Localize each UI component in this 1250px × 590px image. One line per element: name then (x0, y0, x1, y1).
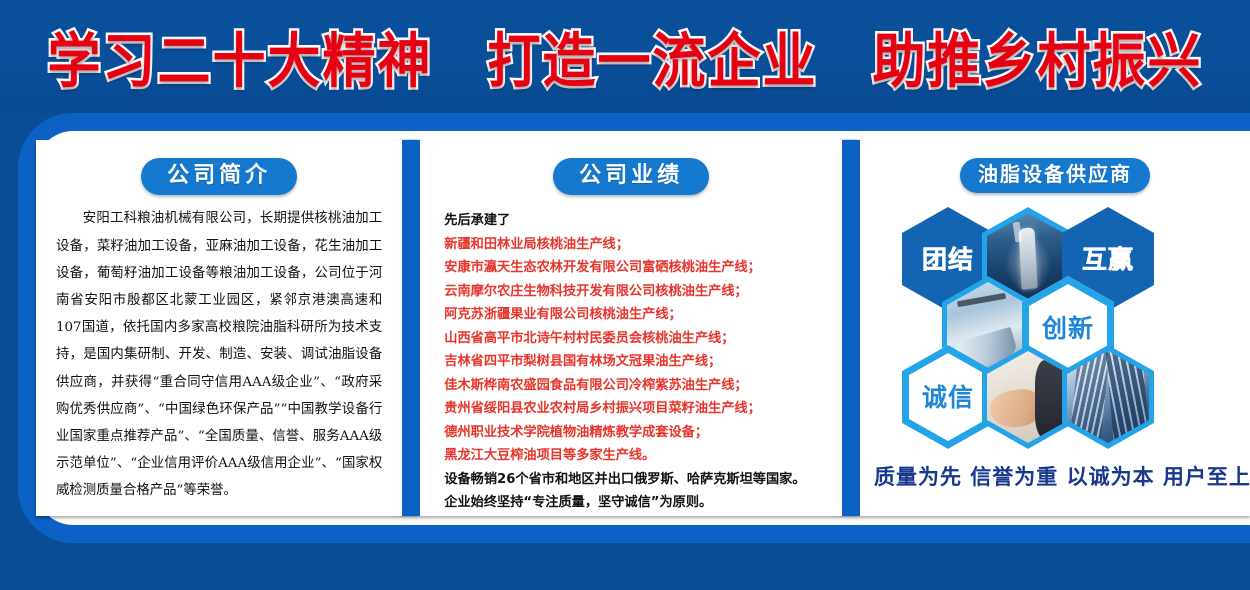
company-intro-title: 公司简介 (141, 158, 297, 195)
performance-item: 阿克苏浙疆果业有限公司核桃油生产线； (444, 303, 824, 327)
performance-item: 德州职业技术学院植物油精炼教学成套设备； (444, 421, 824, 445)
hex-label: 互赢 (1082, 247, 1134, 272)
performance-item: 山西省高平市北诗午村村民委员会核桃油生产线； (444, 327, 824, 351)
performance-item: 安康市瀛天生态农林开发有限公司富硒核桃油生产线； (444, 256, 824, 280)
company-intro-body: 安阳工科粮油机械有限公司，长期提供核桃油加工设备，菜籽油加工设备，亚麻油加工设备… (50, 205, 388, 504)
supplier-title: 油脂设备供应商 (960, 158, 1150, 193)
company-performance-title-wrap: 公司业绩 (434, 158, 828, 195)
company-performance-body: 先后承建了 新疆和田林业局核桃油生产线；安康市瀛天生态农林开发有限公司富硒核桃油… (434, 205, 828, 515)
hex-label: 团结 (922, 247, 974, 272)
performance-footer-list: 设备畅销26个省市和地区并出口俄罗斯、哈萨克斯坦等国家。企业始终坚持“专注质量，… (444, 468, 824, 515)
column-divider-2 (842, 140, 860, 516)
performance-item-list: 新疆和田林业局核桃油生产线；安康市瀛天生态农林开发有限公司富硒核桃油生产线；云南… (444, 233, 824, 468)
values-honeycomb: 团结互赢创新诚信 (874, 203, 1236, 455)
performance-item: 云南摩尔农庄生物科技开发有限公司核桃油生产线； (444, 280, 824, 304)
hex-label: 诚信 (922, 385, 974, 410)
company-intro-column: 公司简介 安阳工科粮油机械有限公司，长期提供核桃油加工设备，菜籽油加工设备，亚麻… (36, 140, 402, 516)
supplier-column: 油脂设备供应商 团结互赢创新诚信 质量为先 信誉为重 以诚为本 用户至上 (860, 140, 1250, 516)
supplier-title-wrap: 油脂设备供应商 (874, 158, 1236, 193)
performance-lead: 先后承建了 (444, 209, 824, 233)
performance-item: 黑龙江大豆榨油项目等多家生产线。 (444, 444, 824, 468)
performance-item: 佳木斯桦南农盛园食品有限公司冷榨紫苏油生产线； (444, 374, 824, 398)
performance-item: 贵州省绥阳县农业农村局乡村振兴项目菜籽油生产线； (444, 397, 824, 421)
performance-item: 新疆和田林业局核桃油生产线； (444, 233, 824, 257)
company-performance-title: 公司业绩 (553, 158, 709, 195)
headline-banner: 学习二十大精神 打造一流企业 助推乡村振兴 (0, 0, 1250, 113)
hex-label: 创新 (1042, 316, 1094, 341)
content-panel: 公司简介 安阳工科粮油机械有限公司，长期提供核桃油加工设备，菜籽油加工设备，亚麻… (36, 140, 1250, 516)
performance-footer-line: 企业始终坚持“专注质量，坚守诚信”为原则。 (444, 491, 824, 515)
headline-title: 学习二十大精神 打造一流企业 助推乡村振兴 (48, 14, 1203, 99)
company-slogan: 质量为先 信誉为重 以诚为本 用户至上 (874, 461, 1236, 491)
company-intro-title-wrap: 公司简介 (50, 158, 388, 195)
performance-footer-line: 设备畅销26个省市和地区并出口俄罗斯、哈萨克斯坦等国家。 (444, 468, 824, 492)
performance-item: 吉林省四平市梨树县国有林场文冠果油生产线； (444, 350, 824, 374)
column-divider-1 (402, 140, 420, 516)
company-performance-column: 公司业绩 先后承建了 新疆和田林业局核桃油生产线；安康市瀛天生态农林开发有限公司… (420, 140, 842, 516)
